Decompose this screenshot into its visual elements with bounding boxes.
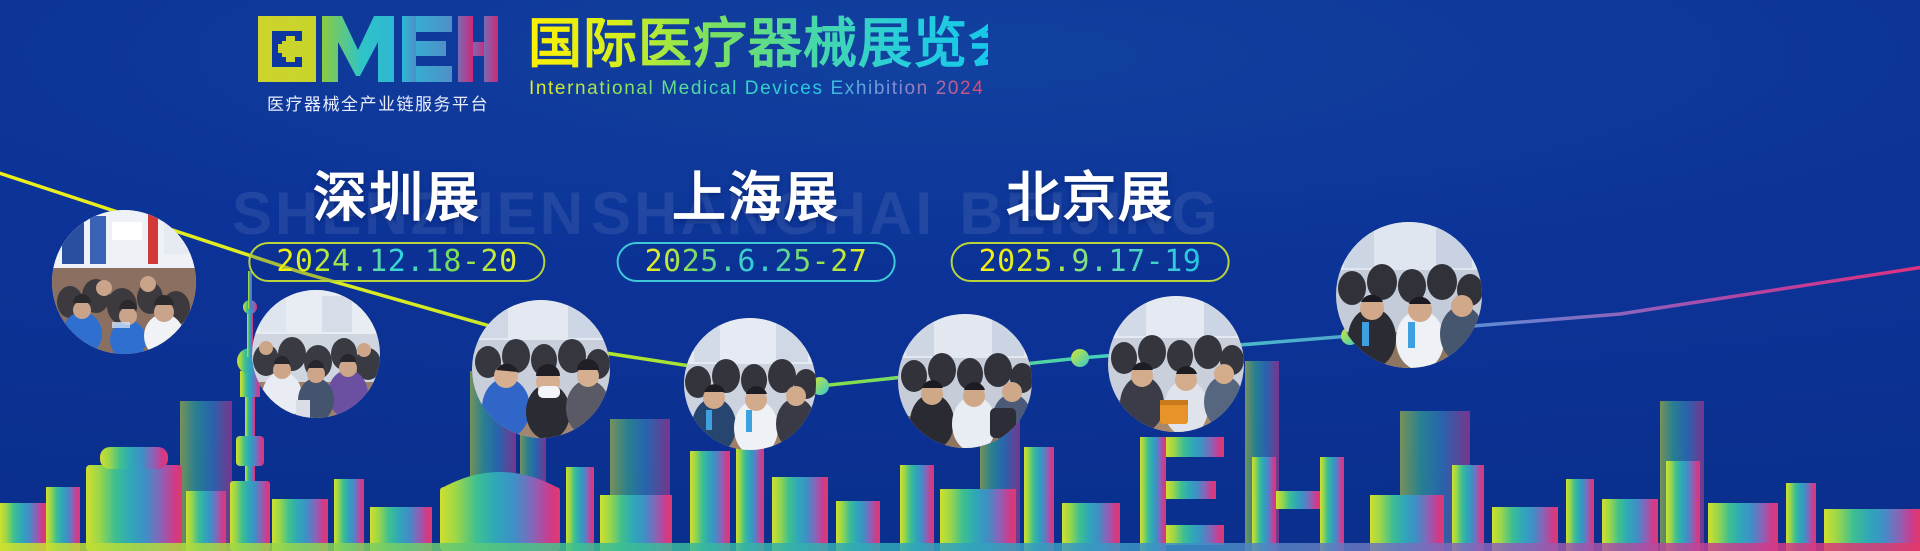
event-title-block: 国际医疗器械展览会 International Medical Devices … [528,12,988,101]
banner-header: 医疗器械全产业链服务平台 国际医疗器械展览会 [0,0,1920,120]
exhibition-crowd-2-image [252,290,380,418]
city-date-pill-shenzhen[interactable]: 2024.12.18-20 [248,242,545,282]
cmeh-logo-mark [258,10,498,88]
event-title-chinese-text: 国际医疗器械展览会 [528,12,988,74]
event-title-english: International Medical Devices Exhibition… [528,75,988,101]
exhibition-crowd-4-image [684,318,816,450]
city-name-beijing: 北京展 [925,168,1255,227]
city-name-shenzhen: 深圳展 [232,168,562,227]
event-title-english-text: International Medical Devices Exhibition… [529,78,984,99]
logo-tagline: 医疗器械全产业链服务平台 [258,90,498,115]
exhibition-banner: 医疗器械全产业链服务平台 国际医疗器械展览会 [0,0,1920,551]
exhibition-photo-5 [898,314,1032,448]
city-edition-shenzhen[interactable]: SHENZHEN 深圳展 2024.12.18-20 [232,150,562,295]
exhibition-crowd-6-image [1108,296,1244,432]
exhibition-photo-3 [472,300,610,438]
city-date-beijing: 2025.9.17-19 [979,247,1202,277]
city-edition-beijing[interactable]: BEIJING 北京展 2025.9.17-19 [925,150,1255,295]
exhibition-crowd-5-image [898,314,1032,448]
city-date-shenzhen: 2024.12.18-20 [276,247,517,277]
city-date-pill-beijing[interactable]: 2025.9.17-19 [951,242,1230,282]
cmeh-logo[interactable]: 医疗器械全产业链服务平台 [258,10,498,115]
city-date-shanghai: 2025.6.25-27 [645,247,868,277]
city-date-pill-shanghai[interactable]: 2025.6.25-27 [617,242,896,282]
exhibition-photo-6 [1108,296,1244,432]
city-editions-row: SHENZHEN 深圳展 2024.12.18-20 SHANGHAI 上海展 … [0,150,1920,295]
city-edition-shanghai[interactable]: SHANGHAI 上海展 2025.6.25-27 [591,150,921,295]
exhibition-crowd-3-image [472,300,610,438]
exhibition-photo-2 [252,290,380,418]
event-title-chinese: 国际医疗器械展览会 [528,12,988,74]
city-name-shanghai: 上海展 [591,168,921,227]
exhibition-photo-4 [684,318,816,450]
